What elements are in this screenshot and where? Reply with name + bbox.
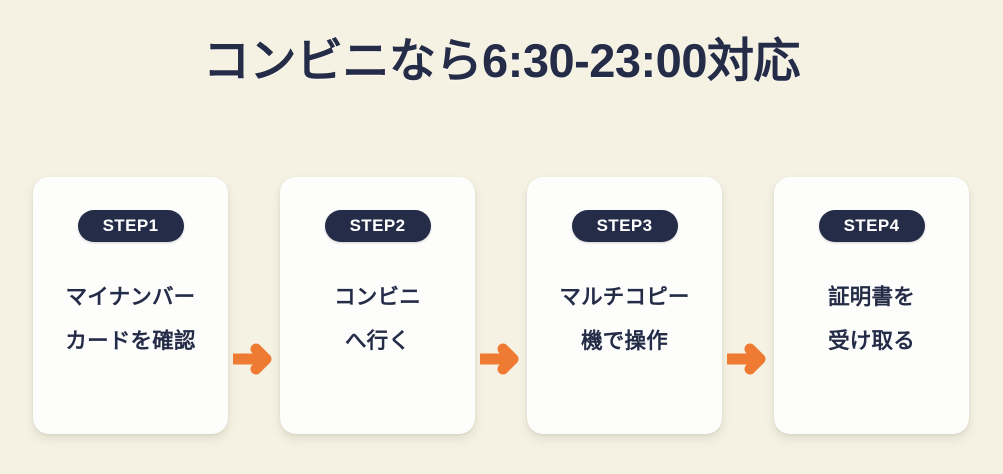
step-card-1: STEP1 マイナンバー カードを確認 bbox=[33, 177, 228, 434]
step-label-3: マルチコピー 機で操作 bbox=[527, 275, 722, 363]
step-card-4: STEP4 証明書を 受け取る bbox=[774, 177, 969, 434]
step-badge-2: STEP2 bbox=[325, 210, 431, 242]
step-badge-4: STEP4 bbox=[819, 210, 925, 242]
arrow-right-icon-3 bbox=[727, 339, 769, 379]
step-label-1-line-2: カードを確認 bbox=[33, 319, 228, 363]
step-label-1: マイナンバー カードを確認 bbox=[33, 275, 228, 363]
step-label-2-line-2: へ行く bbox=[280, 319, 475, 363]
step-badge-3: STEP3 bbox=[572, 210, 678, 242]
step-label-2: コンビニ へ行く bbox=[280, 275, 475, 363]
step-label-2-line-1: コンビニ bbox=[280, 275, 475, 319]
step-card-2: STEP2 コンビニ へ行く bbox=[280, 177, 475, 434]
step-label-3-line-1: マルチコピー bbox=[527, 275, 722, 319]
arrow-right-icon-1 bbox=[233, 339, 275, 379]
step-label-3-line-2: 機で操作 bbox=[527, 319, 722, 363]
page-title: コンビニなら6:30-23:00対応 bbox=[0, 33, 1003, 89]
step-label-4-line-2: 受け取る bbox=[774, 319, 969, 363]
step-label-4: 証明書を 受け取る bbox=[774, 275, 969, 363]
step-card-3: STEP3 マルチコピー 機で操作 bbox=[527, 177, 722, 434]
step-badge-1: STEP1 bbox=[78, 210, 184, 242]
step-label-1-line-1: マイナンバー bbox=[33, 275, 228, 319]
step-label-4-line-1: 証明書を bbox=[774, 275, 969, 319]
arrow-right-icon-2 bbox=[480, 339, 522, 379]
steps-flow: STEP1 マイナンバー カードを確認 STEP2 コンビニ へ行く bbox=[33, 177, 969, 434]
